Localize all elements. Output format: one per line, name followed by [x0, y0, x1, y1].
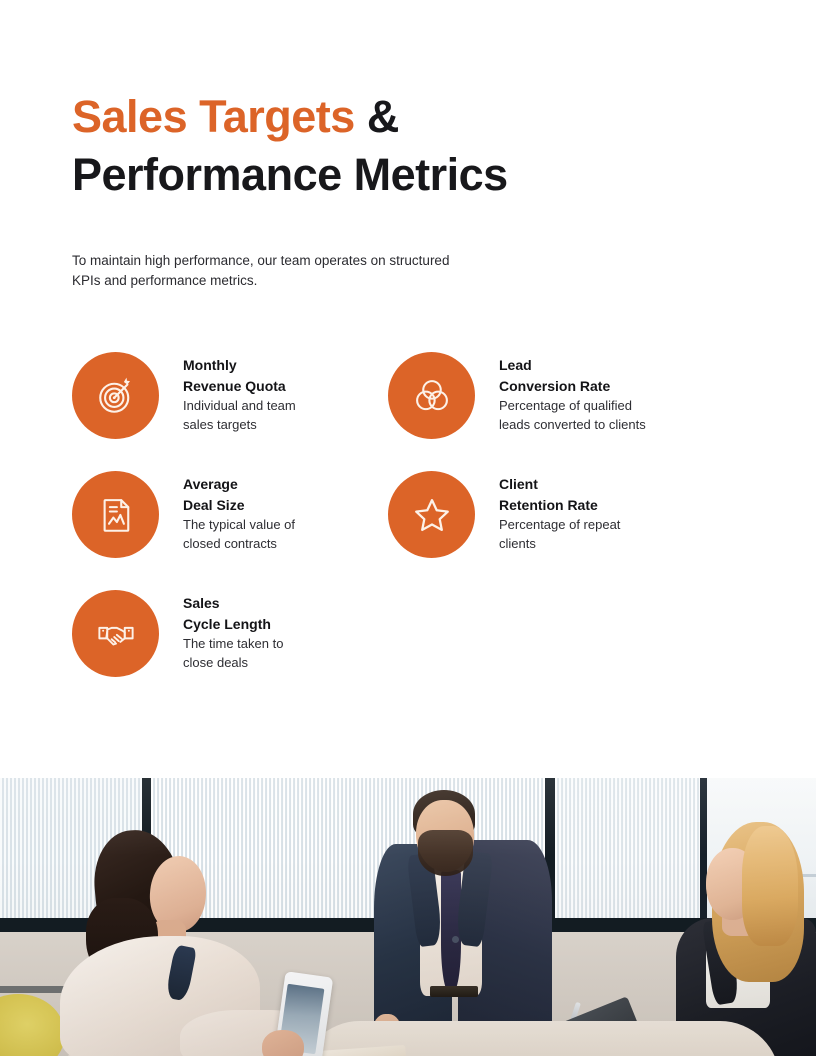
feature-text: Sales Cycle Length The time taken to clo… — [183, 590, 283, 672]
venn-circles-icon — [411, 375, 453, 417]
photo-window-pane-right — [555, 778, 700, 918]
feature-title-line-2: Deal Size — [183, 495, 295, 516]
feature-icon-badge — [72, 471, 159, 558]
feature-text: Average Deal Size The typical value of c… — [183, 471, 295, 553]
feature-item-client-retention-rate: Client Retention Rate Percentage of repe… — [388, 471, 688, 558]
intro-line-1: To maintain high performance, our team o… — [72, 251, 572, 271]
document-chart-icon — [95, 494, 137, 536]
office-meeting-photo — [0, 778, 816, 1056]
feature-icon-badge — [72, 352, 159, 439]
feature-description-line-1: The time taken to — [183, 635, 283, 654]
feature-description-line-2: sales targets — [183, 416, 296, 435]
feature-title-line-2: Retention Rate — [499, 495, 620, 516]
feature-icon-badge — [388, 471, 475, 558]
feature-description: The typical value of closed contracts — [183, 516, 295, 553]
feature-description: The time taken to close deals — [183, 635, 283, 672]
feature-text: Monthly Revenue Quota Individual and tea… — [183, 352, 296, 434]
photo-man-belt — [430, 986, 478, 997]
feature-title-line-2: Cycle Length — [183, 614, 283, 635]
feature-title-line-2: Revenue Quota — [183, 376, 296, 397]
feature-description: Percentage of repeat clients — [499, 516, 620, 553]
feature-item-average-deal-size: Average Deal Size The typical value of c… — [72, 471, 372, 558]
feature-description: Individual and team sales targets — [183, 397, 296, 434]
feature-description-line-2: leads converted to clients — [499, 416, 646, 435]
feature-title-line-1: Lead — [499, 355, 646, 376]
feature-icon-badge — [72, 590, 159, 677]
handshake-icon — [95, 613, 137, 655]
feature-title-line-2: Conversion Rate — [499, 376, 646, 397]
page-title: Sales Targets & Performance Metrics — [72, 88, 712, 204]
feature-description-line-2: close deals — [183, 654, 283, 673]
intro-paragraph: To maintain high performance, our team o… — [72, 251, 572, 291]
feature-text: Client Retention Rate Percentage of repe… — [499, 471, 620, 553]
feature-text: Lead Conversion Rate Percentage of quali… — [499, 352, 646, 434]
photo-woman-left-hand — [262, 1030, 304, 1056]
feature-description-line-1: Percentage of qualified — [499, 397, 646, 416]
feature-title-line-1: Sales — [183, 593, 283, 614]
intro-line-2: KPIs and performance metrics. — [72, 271, 572, 291]
feature-item-sales-cycle-length: Sales Cycle Length The time taken to clo… — [72, 590, 372, 677]
target-icon — [95, 375, 137, 417]
page-title-accent: Sales Targets — [72, 91, 355, 142]
photo-window-mullion-3 — [700, 778, 707, 930]
feature-icon-badge — [388, 352, 475, 439]
feature-description-line-1: Individual and team — [183, 397, 296, 416]
page-title-line-1: Sales Targets & — [72, 88, 712, 146]
document-page: Sales Targets & Performance Metrics To m… — [0, 0, 816, 1056]
feature-title-line-1: Monthly — [183, 355, 296, 376]
page-title-line-2: Performance Metrics — [72, 146, 712, 204]
feature-item-monthly-revenue-quota: Monthly Revenue Quota Individual and tea… — [72, 352, 372, 439]
feature-description-line-1: The typical value of — [183, 516, 295, 535]
feature-description-line-1: Percentage of repeat — [499, 516, 620, 535]
photo-man-suit-button — [452, 936, 459, 943]
feature-description-line-2: clients — [499, 535, 620, 554]
feature-description: Percentage of qualified leads converted … — [499, 397, 646, 434]
feature-title-line-1: Client — [499, 474, 620, 495]
feature-item-lead-conversion-rate: Lead Conversion Rate Percentage of quali… — [388, 352, 688, 439]
feature-description-line-2: closed contracts — [183, 535, 295, 554]
page-title-ampersand: & — [355, 91, 399, 142]
photo-woman-right-hair-front — [742, 826, 798, 946]
photo-man-beard — [418, 830, 473, 876]
feature-title-line-1: Average — [183, 474, 295, 495]
star-icon — [411, 494, 453, 536]
